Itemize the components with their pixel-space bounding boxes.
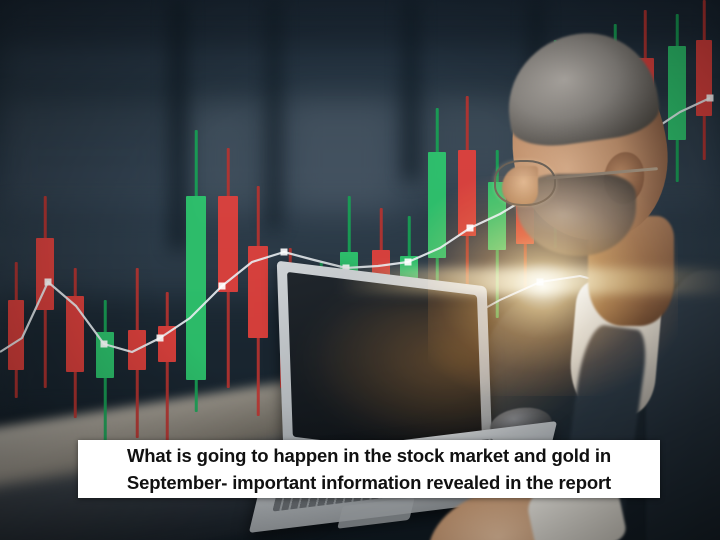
candlestick-body [218,196,238,292]
candlestick-body [428,152,446,258]
candlestick [8,262,24,398]
eyeglasses [494,156,644,210]
candlestick [66,268,84,418]
laptop [262,274,562,540]
candlestick-body [96,332,114,378]
candlestick-wick [166,292,169,452]
caption-line-2: September- important information reveale… [127,469,611,496]
candlestick [158,292,176,452]
candlestick-body [8,300,24,370]
candlestick-body [36,238,54,310]
caption-line-1: What is going to happen in the stock mar… [127,442,611,469]
candlestick-body [458,150,476,236]
candlestick [36,196,54,388]
candlestick [128,268,146,438]
screenshot-canvas: What is going to happen in the stock mar… [0,0,720,540]
candlestick-body [186,196,206,380]
eyeglass-lens [494,160,556,206]
candlestick [186,130,206,412]
candlestick [218,148,238,388]
candlestick-body [158,326,176,362]
eyeglass-temple [546,167,658,180]
laptop-screen [287,272,483,460]
candlestick-body [128,330,146,370]
candlestick-body [66,296,84,372]
caption-box: What is going to happen in the stock mar… [78,440,660,498]
